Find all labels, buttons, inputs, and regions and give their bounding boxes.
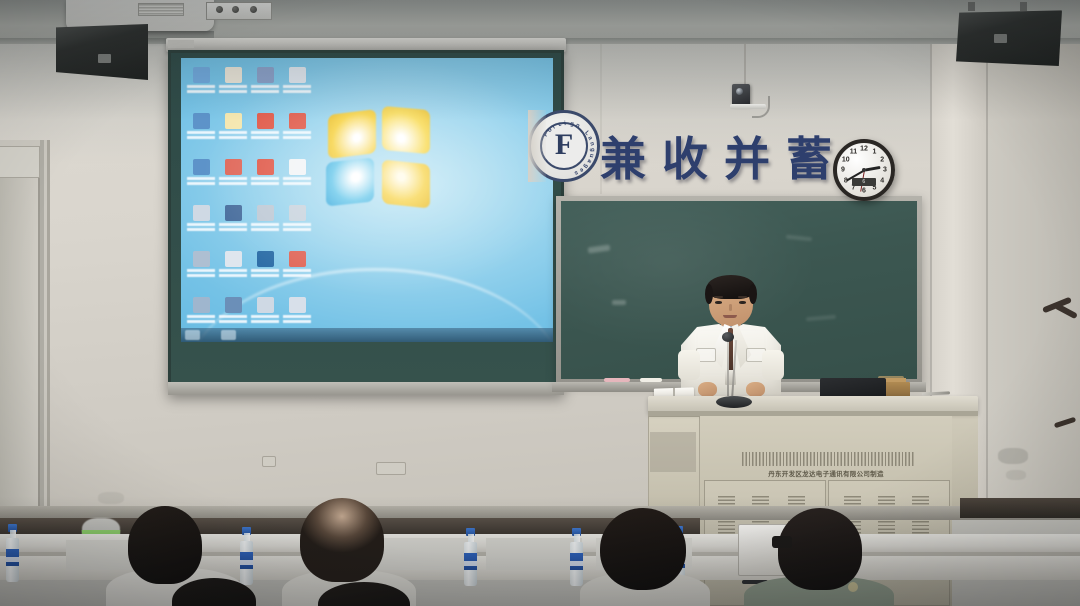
desktop-icon-label — [219, 131, 247, 141]
desktop-icon-glyph — [225, 251, 242, 267]
clock-numeral: 11 — [850, 148, 857, 155]
slogan-char-3: 并 — [724, 136, 770, 182]
desktop-icon-label — [251, 177, 279, 187]
chalk-stick-white[interactable] — [640, 378, 662, 382]
seal-ring-char: s — [573, 169, 579, 176]
desk-panel — [486, 538, 582, 570]
desktop-icon-glyph — [193, 205, 210, 221]
projector-vent — [138, 3, 184, 16]
attendee-3-head — [600, 508, 686, 590]
desktop-icon-label — [283, 315, 311, 325]
door-transom-window — [0, 146, 40, 178]
desktop-icon-glyph — [257, 113, 274, 129]
presenter-hand-left — [698, 382, 717, 397]
screen-case-cap — [168, 40, 194, 48]
seal-edge-shadow — [528, 110, 546, 182]
wall-camera — [732, 84, 750, 106]
seal-ring-char: n — [575, 123, 581, 130]
desktop-icon-glyph — [257, 205, 274, 221]
classroom-scene: F Foreign Languages 兼收并蓄 121234567891011… — [0, 0, 1080, 606]
desktop-icon-15[interactable] — [249, 202, 281, 248]
desktop-icon-label — [251, 223, 279, 233]
desktop-icon-glyph — [225, 159, 242, 175]
desktop-icon-glyph — [193, 113, 210, 129]
presenter-eyebrow — [714, 296, 723, 298]
desktop-icon-label — [251, 269, 279, 279]
desktop-icon-1[interactable] — [185, 64, 217, 110]
desktop-icon-5[interactable] — [185, 110, 217, 156]
desktop-icon-glyph — [257, 159, 274, 175]
wall-seam — [986, 44, 988, 514]
wall-slogan: 兼收并蓄 — [600, 128, 832, 190]
speaker-badge — [994, 34, 1007, 43]
clock-numeral: 12 — [860, 146, 868, 153]
desktop-icon-12[interactable] — [281, 156, 313, 202]
desktop-icon-glyph — [257, 67, 274, 83]
desktop-icon-6[interactable] — [217, 110, 249, 156]
clock-numeral: 9 — [841, 167, 845, 174]
desk-panel — [372, 538, 468, 570]
desktop-icon-grid[interactable] — [185, 64, 313, 340]
presenter-nose — [729, 304, 732, 311]
desktop-icon-glyph — [225, 297, 242, 313]
presenter-eye — [739, 301, 746, 304]
desktop-icon-label — [219, 269, 247, 279]
desktop-icon-label — [187, 315, 215, 325]
desktop-icon-10[interactable] — [217, 156, 249, 202]
desktop-icon-label — [219, 177, 247, 187]
seal-ring-char: u — [588, 153, 595, 158]
clock-numeral: 2 — [880, 156, 884, 163]
podium-manufacturer-label: 丹东开发区龙达电子通讯有限公司制造 — [700, 468, 952, 478]
desktop-icon-8[interactable] — [281, 110, 313, 156]
desktop-icon-17[interactable] — [185, 248, 217, 294]
podium-vent-grille — [742, 452, 914, 466]
desktop-icon-glyph — [225, 67, 242, 83]
attendee-4-insignia — [848, 582, 858, 592]
desktop-icon-glyph — [225, 113, 242, 129]
clock-center-pin — [862, 168, 866, 172]
wall-paint-chip — [998, 448, 1028, 464]
desktop-icon-glyph — [289, 297, 306, 313]
desktop-icon-label — [219, 223, 247, 233]
desktop-icon-label — [283, 269, 311, 279]
desktop-icon-label — [187, 223, 215, 233]
presenter-sleeve-left — [678, 350, 700, 380]
water-bottle[interactable] — [240, 527, 253, 585]
desktop-icon-glyph — [193, 251, 210, 267]
desktop-icon-16[interactable] — [281, 202, 313, 248]
desktop-icon-label — [283, 177, 311, 187]
taskbar[interactable] — [181, 328, 553, 342]
wall-speaker-right — [956, 8, 1062, 66]
seal-ring-char: a — [586, 158, 593, 164]
projector-knob — [250, 6, 257, 13]
slogan-char-1: 兼 — [600, 136, 646, 182]
desktop-icon-7[interactable] — [249, 110, 281, 156]
speaker-bracket — [1020, 2, 1027, 11]
desktop-icon-19[interactable] — [249, 248, 281, 294]
desktop-icon-label — [219, 315, 247, 325]
clock-numeral: 3 — [883, 167, 887, 174]
seal-ring-char: i — [564, 121, 566, 127]
water-bottle[interactable] — [6, 524, 19, 582]
camera-lens-icon — [736, 88, 743, 95]
desktop-icon-glyph — [193, 67, 210, 83]
desktop-icon-9[interactable] — [185, 156, 217, 202]
screen-bottom-bar — [168, 382, 564, 395]
attendee-4-glasses-icon — [772, 536, 792, 548]
desktop-icon-glyph — [289, 67, 306, 83]
desktop-icon-label — [251, 315, 279, 325]
desktop-icon-glyph — [225, 205, 242, 221]
presenter-mouth — [723, 315, 737, 318]
desktop-icon-label — [187, 131, 215, 141]
desktop-icon-14[interactable] — [217, 202, 249, 248]
chalk-stick-pink[interactable] — [604, 378, 630, 382]
desktop-icon-glyph — [193, 297, 210, 313]
water-bottle[interactable] — [570, 528, 583, 586]
desktop-icon-glyph — [289, 251, 306, 267]
clock-numeral: 7 — [852, 185, 856, 192]
desktop-icon-18[interactable] — [217, 248, 249, 294]
wall-clock: 121234567891011 6 — [833, 139, 895, 201]
desktop-icon-glyph — [289, 205, 306, 221]
podium-shelf-slot — [650, 432, 696, 472]
classroom-door[interactable] — [0, 178, 40, 520]
clock-date-window: 6 — [852, 178, 876, 186]
camera-pole — [744, 44, 746, 86]
speaker-badge — [98, 54, 111, 63]
desktop-icon-13[interactable] — [185, 202, 217, 248]
taskbar-start-button[interactable] — [185, 330, 200, 340]
door-edge — [40, 140, 44, 520]
desktop-icon-11[interactable] — [249, 156, 281, 202]
wall-far-right — [988, 44, 1080, 514]
slogan-char-4: 蓄 — [786, 136, 832, 182]
desktop-icon-label — [251, 85, 279, 95]
desktop-icon-label — [283, 85, 311, 95]
windows-logo-icon — [326, 108, 438, 212]
desktop-icon-label — [283, 131, 311, 141]
attendee-4-head — [778, 508, 862, 590]
seal-ring-char: a — [586, 135, 593, 141]
desktop-icon-glyph — [193, 159, 210, 175]
desktop-icon-glyph — [257, 251, 274, 267]
presenter-hair-side — [749, 284, 757, 304]
power-outlet[interactable] — [262, 456, 276, 467]
desktop-icon-20[interactable] — [281, 248, 313, 294]
presenter-hair-side — [705, 284, 713, 304]
desktop-icon-label — [283, 223, 311, 233]
desktop-icon-glyph — [289, 159, 306, 175]
floor-strip-right — [960, 498, 1080, 518]
seal-ring-char: n — [588, 141, 595, 146]
wall-paint-chip — [98, 492, 124, 504]
desktop-icon-label — [187, 269, 215, 279]
desktop-icon-glyph — [257, 297, 274, 313]
desktop-icon-label — [251, 131, 279, 141]
microphone-head-icon[interactable] — [722, 332, 734, 342]
wall-switch-panel[interactable] — [376, 462, 406, 475]
attendee-2-head-balding — [300, 498, 384, 582]
desktop-icon-2[interactable] — [217, 64, 249, 110]
presenter-sleeve-right — [762, 350, 784, 380]
wall-speaker-left — [56, 24, 148, 80]
clock-numeral: 1 — [873, 148, 877, 155]
microphone-base — [716, 396, 752, 408]
water-bottle[interactable] — [464, 528, 477, 586]
projected-desktop[interactable] — [181, 58, 553, 342]
clock-numeral: 5 — [873, 185, 877, 192]
clock-hour-hand — [865, 166, 880, 172]
seal-ring-char: g — [570, 121, 574, 127]
taskbar-item[interactable] — [221, 330, 236, 340]
presenter-eye — [715, 301, 722, 304]
seal-ring-char: g — [589, 148, 595, 152]
desktop-icon-label — [187, 85, 215, 95]
desktop-icon-glyph — [289, 113, 306, 129]
desktop-icon-3[interactable] — [249, 64, 281, 110]
chalk-smudge — [612, 300, 626, 305]
clock-numeral: 10 — [842, 156, 850, 163]
projector-knob — [232, 6, 239, 13]
seal-ring-char: g — [582, 163, 589, 170]
seal-ring-char: e — [558, 122, 563, 129]
wall-paint-chip — [1006, 470, 1026, 480]
attendee-1-head — [128, 506, 202, 584]
projector-knob — [216, 6, 223, 13]
microphone-stand — [727, 336, 729, 404]
presenter-hand-right — [746, 382, 765, 397]
clock-numeral: 4 — [880, 177, 884, 184]
wall-coat-hook[interactable] — [1040, 296, 1080, 330]
slogan-char-2: 收 — [662, 136, 708, 182]
presenter-eyebrow — [738, 296, 747, 298]
desktop-icon-label — [219, 85, 247, 95]
desktop-icon-label — [187, 177, 215, 187]
speaker-bracket — [968, 2, 975, 11]
clock-numeral: 6 — [862, 188, 866, 195]
desktop-icon-4[interactable] — [281, 64, 313, 110]
